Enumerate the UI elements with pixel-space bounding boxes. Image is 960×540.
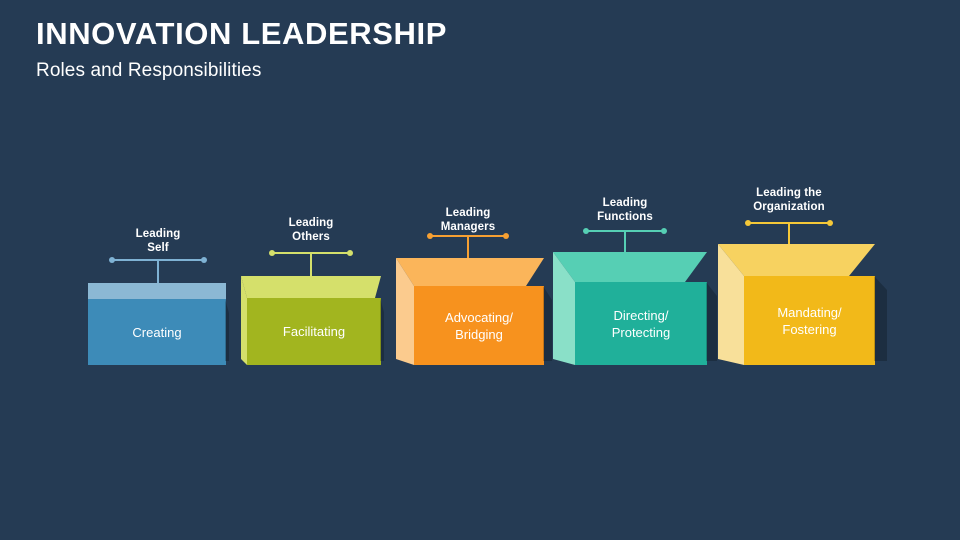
cube-top-face	[718, 244, 875, 276]
step-caption-3: Leading Managers	[398, 206, 538, 234]
step-caption-2: Leading Others	[240, 216, 382, 244]
connector-right-dot-icon	[661, 228, 667, 234]
cube-label-3: Advocating/ Bridging	[414, 309, 544, 343]
connector-stem-icon	[157, 260, 159, 284]
diagram-stage: Leading SelfCreatingLeading OthersFacili…	[0, 0, 960, 540]
connector-stem-icon	[788, 223, 790, 245]
cube-label-2: Facilitating	[247, 323, 381, 340]
cube-top-face	[88, 283, 226, 299]
cube-label-4: Directing/ Protecting	[575, 307, 707, 341]
step-cube-4[interactable]: Directing/ Protecting	[553, 252, 707, 365]
slide-canvas: INNOVATION LEADERSHIP Roles and Responsi…	[0, 0, 960, 540]
cube-right-shadow	[543, 286, 552, 361]
connector-left-dot-icon	[745, 220, 751, 226]
cube-top-face	[553, 252, 707, 282]
step-caption-4: Leading Functions	[554, 196, 696, 224]
connector-right-dot-icon	[827, 220, 833, 226]
connector-left-dot-icon	[427, 233, 433, 239]
step-cube-5[interactable]: Mandating/ Fostering	[718, 244, 875, 365]
step-cube-1[interactable]: Creating	[88, 283, 226, 365]
cube-right-shadow	[706, 282, 717, 361]
connector-right-dot-icon	[201, 257, 207, 263]
cube-label-1: Creating	[88, 324, 226, 341]
step-cube-2[interactable]: Facilitating	[241, 276, 381, 365]
step-cube-3[interactable]: Advocating/ Bridging	[396, 258, 544, 365]
connector-left-dot-icon	[583, 228, 589, 234]
cube-top-face	[396, 258, 544, 286]
connector-right-dot-icon	[347, 250, 353, 256]
connector-right-dot-icon	[503, 233, 509, 239]
connector-stem-icon	[310, 253, 312, 277]
cube-top-face	[241, 276, 381, 298]
step-caption-1: Leading Self	[80, 227, 236, 255]
cube-label-5: Mandating/ Fostering	[744, 304, 875, 338]
connector-left-dot-icon	[269, 250, 275, 256]
connector-stem-icon	[624, 231, 626, 253]
connector-left-dot-icon	[109, 257, 115, 263]
connector-stem-icon	[467, 236, 469, 259]
cube-right-shadow	[874, 276, 887, 361]
step-caption-5: Leading the Organization	[716, 186, 862, 214]
